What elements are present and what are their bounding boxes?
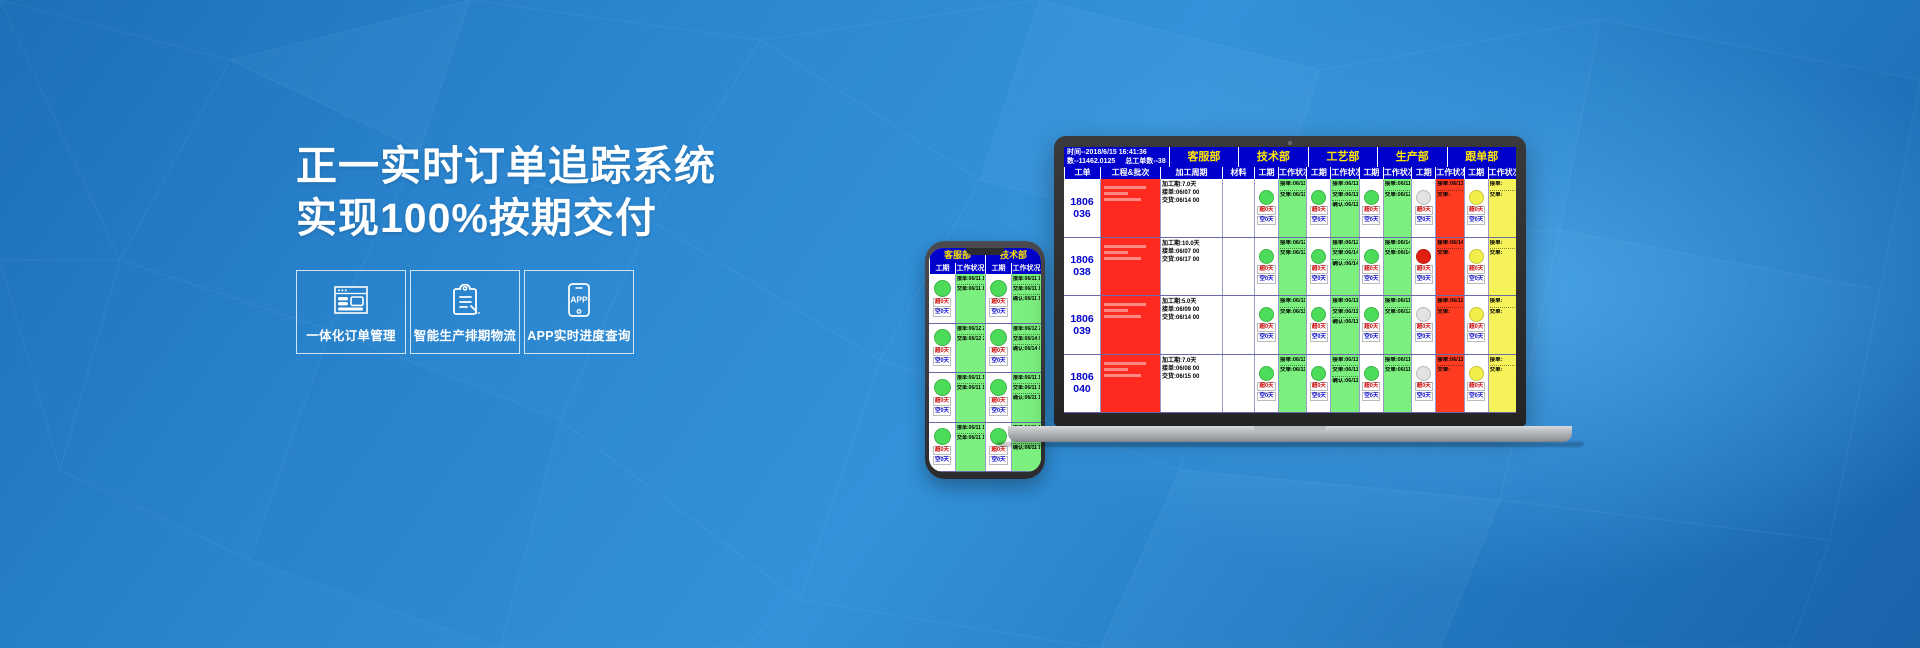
duration-indicator-客服部: 超0天空0天 (1254, 355, 1278, 413)
status-dot (1364, 249, 1379, 264)
col-header-技术部-工期: 工期 (1306, 167, 1330, 179)
feature-label: 智能生产排期物流 (414, 325, 516, 344)
headline-line-2: 实现100%按期交付 (296, 192, 716, 244)
processing-cycle: 加工期:10.0天接单:06/07 00交货:06/17 00 (1160, 238, 1222, 296)
work-status-工艺部: 接单:06/14 08交单:06/14 14 (1383, 238, 1411, 296)
work-status-技术部: 接单:06/11 17交单:06/11 17确认:06/11 17 (1330, 355, 1358, 413)
processing-cycle: 加工期:7.0天接单:06/07 00交货:06/14 00 (1160, 179, 1222, 237)
phone-duration-indicator-1: 超0天空0天 (929, 324, 955, 373)
project-batch (1100, 179, 1160, 237)
feature-label: 一体化订单管理 (306, 325, 396, 344)
status-dot (1469, 366, 1484, 381)
work-status-技术部: 接单:06/11 17交单:06/11 17确认:06/11 17 (1330, 296, 1358, 354)
phone-col-header-客服部-工作状况: 工作状况 (955, 263, 985, 274)
status-dot (1416, 190, 1431, 205)
phone-duration-indicator-2: 超0天空0天 (985, 274, 1011, 323)
col-header-生产部-工期: 工期 (1411, 167, 1435, 179)
table-row[interactable]: 1806036加工期:7.0天接单:06/07 00交货:06/14 00超0天… (1064, 179, 1516, 238)
project-batch (1100, 296, 1160, 354)
col-header-材料: 材料 (1222, 167, 1254, 179)
idle-days-tag: 空0天 (1310, 275, 1328, 284)
col-header-工程&批次: 工程&批次 (1100, 167, 1160, 179)
over-days-tag: 超0天 (1467, 265, 1485, 274)
phone-col-header-客服部-工期: 工期 (929, 263, 955, 274)
project-batch (1100, 238, 1160, 296)
project-batch (1100, 355, 1160, 413)
work-status-客服部: 接单:06/12 20交单:06/12 20 (1278, 238, 1306, 296)
laptop-lid: 时间--2018/6/15 16:41:36 数--11462.0125 总工单… (1054, 136, 1526, 426)
column-header-row: 工单工程&批次加工周期材料工期工作状况工期工作状况工期工作状况工期工作状况工期工… (1064, 167, 1516, 179)
duration-indicator-跟单部: 超0天空0天 (1464, 179, 1488, 237)
svg-text:APP: APP (570, 295, 588, 305)
over-days-tag: 超0天 (1257, 206, 1275, 215)
duration-indicator-技术部: 超0天空0天 (1306, 296, 1330, 354)
work-status-跟单部: 接单:交单: (1488, 355, 1516, 413)
duration-indicator-生产部: 超0天空0天 (1411, 179, 1435, 237)
work-status-工艺部: 接单:06/11 17交单:06/11 17 (1383, 355, 1411, 413)
work-status-客服部: 接单:06/11 17交单:06/11 17 (1278, 296, 1306, 354)
table-row[interactable]: 1806040加工期:7.0天接单:06/08 00交货:06/15 00超0天… (1064, 355, 1516, 414)
idle-days-tag: 空0天 (1415, 275, 1433, 284)
department-header-group: 客服部技术部工艺部生产部跟单部 (1169, 147, 1516, 167)
idle-days-tag: 空0天 (1415, 333, 1433, 342)
over-days-tag: 超0天 (1257, 382, 1275, 391)
status-dot (934, 329, 951, 346)
status-dot (934, 379, 951, 396)
duration-indicator-技术部: 超0天空0天 (1306, 238, 1330, 296)
department-header-3: 工艺部 (1308, 147, 1377, 167)
phone-table-row[interactable]: 超0天空0天接单:06/11 17交单:06/11 17超0天空0天接单:06/… (929, 274, 1041, 324)
status-dot (1311, 190, 1326, 205)
feature-smart-scheduling[interactable]: 智能生产排期物流 (410, 270, 520, 354)
material (1222, 355, 1254, 413)
work-status-生产部: 接单:06/11 17交单: (1435, 355, 1463, 413)
over-days-tag: 超0天 (1362, 265, 1380, 274)
duration-indicator-跟单部: 超0天空0天 (1464, 238, 1488, 296)
phone-table-row[interactable]: 超0天空0天接单:06/11 17交单:06/11 17超0天空0天接单:06/… (929, 373, 1041, 423)
processing-cycle: 加工期:7.0天接单:06/08 00交货:06/15 00 (1160, 355, 1222, 413)
meta-time: 时间--2018/6/15 16:41:36 (1067, 148, 1166, 157)
status-dot (1364, 307, 1379, 322)
idle-days-tag: 空0天 (1467, 392, 1485, 401)
duration-indicator-工艺部: 超0天空0天 (1359, 296, 1383, 354)
table-row[interactable]: 1806039加工期:5.0天接单:06/09 00交货:06/14 00超0天… (1064, 296, 1516, 355)
headline-line-1: 正一实时订单追踪系统 (296, 143, 716, 189)
over-days-tag: 超0天 (1362, 382, 1380, 391)
phone-work-status-2: 接单:06/11 17交单:06/11 17确认:06/11 17 (1011, 274, 1041, 323)
feature-label: APP实时进度查询 (527, 325, 630, 344)
feature-app-progress-query[interactable]: APP APP实时进度查询 (524, 270, 634, 354)
status-dot (990, 329, 1007, 346)
status-dot (934, 428, 951, 445)
status-dot (1416, 249, 1431, 264)
status-dot (1311, 249, 1326, 264)
col-header-工艺部-工作状况: 工作状况 (1383, 167, 1411, 179)
duration-indicator-客服部: 超0天空0天 (1254, 179, 1278, 237)
duration-indicator-生产部: 超0天空0天 (1411, 296, 1435, 354)
dashboard-meta: 时间--2018/6/15 16:41:36 数--11462.0125 总工单… (1064, 147, 1169, 167)
duration-indicator-技术部: 超0天空0天 (1306, 355, 1330, 413)
status-dot (1259, 366, 1274, 381)
meta-total: 总工单数--38 (1125, 157, 1165, 166)
col-header-跟单部-工作状况: 工作状况 (1488, 167, 1516, 179)
over-days-tag: 超0天 (933, 347, 951, 356)
idle-days-tag: 空0天 (933, 407, 951, 416)
phone-duration-indicator-1: 超0天空0天 (929, 373, 955, 422)
work-status-工艺部: 接单:06/11 17交单:06/12 09 (1383, 296, 1411, 354)
idle-days-tag: 空0天 (989, 407, 1007, 416)
idle-days-tag: 空0天 (1467, 275, 1485, 284)
idle-days-tag: 空0天 (1257, 333, 1275, 342)
material (1222, 179, 1254, 237)
phone-duration-indicator-2: 超0天空0天 (985, 373, 1011, 422)
material (1222, 238, 1254, 296)
material (1222, 296, 1254, 354)
idle-days-tag: 空0天 (1310, 333, 1328, 342)
work-status-技术部: 接单:06/11 17交单:06/11 17确认:06/11 17 (1330, 179, 1358, 237)
over-days-tag: 超0天 (1362, 323, 1380, 332)
col-header-工艺部-工期: 工期 (1359, 167, 1383, 179)
department-header-4: 生产部 (1377, 147, 1446, 167)
work-status-生产部: 接单:06/13交单: (1435, 179, 1463, 237)
department-header-1: 客服部 (1169, 147, 1238, 167)
feature-list: 一体化订单管理 智能生产排期物流 (296, 270, 716, 354)
idle-days-tag: 空0天 (1257, 216, 1275, 225)
meta-count: 数--11462.0125 (1067, 157, 1115, 166)
over-days-tag: 超0天 (1310, 206, 1328, 215)
idle-days-tag: 空0天 (933, 456, 951, 465)
promo-banner: 正一实时订单追踪系统 实现100%按期交付 一 (0, 0, 1920, 648)
status-dot (1364, 366, 1379, 381)
work-status-跟单部: 接单:交单: (1488, 296, 1516, 354)
duration-indicator-客服部: 超0天空0天 (1254, 296, 1278, 354)
idle-days-tag: 空0天 (933, 357, 951, 366)
idle-days-tag: 空0天 (1257, 275, 1275, 284)
over-days-tag: 超0天 (1415, 265, 1433, 274)
status-dot (1469, 307, 1484, 322)
duration-indicator-跟单部: 超0天空0天 (1464, 355, 1488, 413)
laptop-screen: 时间--2018/6/15 16:41:36 数--11462.0125 总工单… (1064, 147, 1516, 413)
work-status-客服部: 接单:06/11 17交单:06/11 17 (1278, 179, 1306, 237)
over-days-tag: 超0天 (933, 298, 951, 307)
status-dot (1311, 307, 1326, 322)
phone-notch (966, 248, 1004, 255)
over-days-tag: 超0天 (933, 446, 951, 455)
headline-block: 正一实时订单追踪系统 实现100%按期交付 一 (296, 140, 716, 354)
laptop-base-notch (1254, 426, 1326, 432)
idle-days-tag: 空0天 (1415, 392, 1433, 401)
work-status-生产部: 接单:06/14 14交单: (1435, 238, 1463, 296)
table-row[interactable]: 1806038加工期:10.0天接单:06/07 00交货:06/17 00超0… (1064, 238, 1516, 297)
idle-days-tag: 空0天 (1362, 392, 1380, 401)
status-dot (1364, 190, 1379, 205)
status-dot (1416, 307, 1431, 322)
phone-duration-indicator-2: 超0天空0天 (985, 324, 1011, 373)
phone-work-status-2: 接单:06/11 17交单:06/11 17确认:06/11 17 (1011, 373, 1041, 422)
over-days-tag: 超0天 (1415, 323, 1433, 332)
webcam-icon (1288, 141, 1292, 145)
department-header-5: 跟单部 (1447, 147, 1516, 167)
idle-days-tag: 空0天 (989, 357, 1007, 366)
duration-indicator-工艺部: 超0天空0天 (1359, 238, 1383, 296)
col-header-跟单部-工期: 工期 (1464, 167, 1488, 179)
duration-indicator-生产部: 超0天空0天 (1411, 238, 1435, 296)
work-status-客服部: 接单:06/11 17交单:06/11 17 (1278, 355, 1306, 413)
status-dot (1311, 366, 1326, 381)
phone-work-status-1: 接单:06/11 17交单:06/11 17 (955, 423, 985, 472)
order-tracking-dashboard: 时间--2018/6/15 16:41:36 数--11462.0125 总工单… (1064, 147, 1516, 413)
work-status-跟单部: 接单:交单: (1488, 179, 1516, 237)
order-table-body: 1806036加工期:7.0天接单:06/07 00交货:06/14 00超0天… (1064, 179, 1516, 413)
department-header-2: 技术部 (1238, 147, 1307, 167)
page-title: 正一实时订单追踪系统 实现100%按期交付 (296, 140, 716, 244)
duration-indicator-工艺部: 超0天空0天 (1359, 355, 1383, 413)
phone-col-header-技术部-工期: 工期 (985, 263, 1011, 274)
col-header-加工周期: 加工周期 (1160, 167, 1222, 179)
order-id: 1806038 (1064, 238, 1100, 296)
duration-indicator-技术部: 超0天空0天 (1306, 179, 1330, 237)
idle-days-tag: 空0天 (1415, 216, 1433, 225)
idle-days-tag: 空0天 (1310, 216, 1328, 225)
status-dot (1469, 190, 1484, 205)
phone-work-status-1: 接单:06/11 17交单:06/11 17 (955, 274, 985, 323)
over-days-tag: 超0天 (1467, 323, 1485, 332)
over-days-tag: 超0天 (989, 446, 1007, 455)
over-days-tag: 超0天 (933, 397, 951, 406)
idle-days-tag: 空0天 (1362, 216, 1380, 225)
status-dot (990, 379, 1007, 396)
over-days-tag: 超0天 (1362, 206, 1380, 215)
idle-days-tag: 空0天 (989, 308, 1007, 317)
over-days-tag: 超0天 (989, 298, 1007, 307)
dashboard-layout-icon (334, 283, 368, 317)
col-header-工单: 工单 (1064, 167, 1100, 179)
phone-duration-indicator-1: 超0天空0天 (929, 274, 955, 323)
status-dot (1259, 307, 1274, 322)
phone-table-row[interactable]: 超0天空0天接单:06/12 20交单:06/12 20超0天空0天接单:06/… (929, 324, 1041, 374)
phone-col-header-技术部-工作状况: 工作状况 (1011, 263, 1041, 274)
over-days-tag: 超0天 (1310, 382, 1328, 391)
status-dot (1469, 249, 1484, 264)
feature-order-management[interactable]: 一体化订单管理 (296, 270, 406, 354)
col-header-技术部-工作状况: 工作状况 (1330, 167, 1358, 179)
duration-indicator-工艺部: 超0天空0天 (1359, 179, 1383, 237)
over-days-tag: 超0天 (1415, 206, 1433, 215)
laptop-shadow (996, 442, 1584, 447)
phone-work-status-1: 接单:06/11 17交单:06/11 17 (955, 373, 985, 422)
idle-days-tag: 空0天 (933, 308, 951, 317)
idle-days-tag: 空0天 (1362, 275, 1380, 284)
status-dot (934, 280, 951, 297)
over-days-tag: 超0天 (989, 397, 1007, 406)
idle-days-tag: 空0天 (989, 456, 1007, 465)
order-id: 1806039 (1064, 296, 1100, 354)
idle-days-tag: 空0天 (1257, 392, 1275, 401)
phone-subcolumn-header: 工期工作状况工期工作状况 (929, 263, 1041, 274)
phone-work-status-1: 接单:06/12 20交单:06/12 20 (955, 324, 985, 373)
idle-days-tag: 空0天 (1362, 333, 1380, 342)
processing-cycle: 加工期:5.0天接单:06/09 00交货:06/14 00 (1160, 296, 1222, 354)
over-days-tag: 超0天 (1467, 206, 1485, 215)
status-dot (1259, 190, 1274, 205)
duration-indicator-跟单部: 超0天空0天 (1464, 296, 1488, 354)
over-days-tag: 超0天 (1257, 323, 1275, 332)
over-days-tag: 超0天 (1415, 382, 1433, 391)
over-days-tag: 超0天 (1467, 382, 1485, 391)
over-days-tag: 超0天 (989, 347, 1007, 356)
over-days-tag: 超0天 (1310, 265, 1328, 274)
col-header-生产部-工作状况: 工作状况 (1435, 167, 1463, 179)
idle-days-tag: 空0天 (1467, 216, 1485, 225)
dashboard-header: 时间--2018/6/15 16:41:36 数--11462.0125 总工单… (1064, 147, 1516, 167)
idle-days-tag: 空0天 (1310, 392, 1328, 401)
mobile-app-icon: APP (567, 283, 591, 317)
work-status-跟单部: 接单:交单: (1488, 238, 1516, 296)
status-dot (1259, 249, 1274, 264)
order-id: 1806036 (1064, 179, 1100, 237)
status-dot (1416, 366, 1431, 381)
over-days-tag: 超0天 (1257, 265, 1275, 274)
col-header-客服部-工作状况: 工作状况 (1278, 167, 1306, 179)
duration-indicator-客服部: 超0天空0天 (1254, 238, 1278, 296)
order-id: 1806040 (1064, 355, 1100, 413)
phone-work-status-2: 接单:06/12 20交单:06/14 08确认:06/14 08 (1011, 324, 1041, 373)
work-status-工艺部: 接单:06/11交单:06/12 (1383, 179, 1411, 237)
over-days-tag: 超0天 (1310, 323, 1328, 332)
work-status-生产部: 接单:06/12 09交单: (1435, 296, 1463, 354)
laptop-mockup: 时间--2018/6/15 16:41:36 数--11462.0125 总工单… (1054, 136, 1526, 426)
status-dot (990, 280, 1007, 297)
phone-duration-indicator-1: 超0天空0天 (929, 423, 955, 472)
work-status-技术部: 接单:06/12 20交单:06/14 08确认:06/14 08 (1330, 238, 1358, 296)
duration-indicator-生产部: 超0天空0天 (1411, 355, 1435, 413)
clipboard-schedule-icon (450, 283, 480, 317)
idle-days-tag: 空0天 (1467, 333, 1485, 342)
col-header-客服部-工期: 工期 (1254, 167, 1278, 179)
